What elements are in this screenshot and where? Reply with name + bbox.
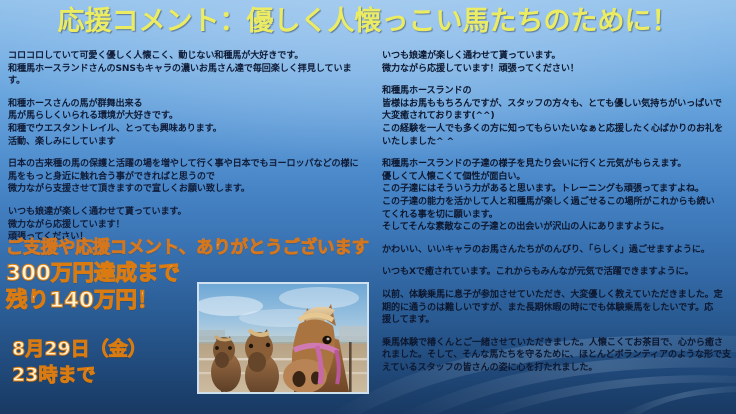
comment-paragraph: かわいい、いいキャラのお馬さんたちがのんびり、「らしく」過ごせますように。: [382, 244, 734, 257]
comment-paragraph: 和種馬ホースランドの皆様はお馬ももちろんですが、スタッフの方々も、とても優しい気…: [382, 85, 734, 148]
deadline-time: 23時まで: [12, 362, 147, 388]
comment-paragraph: 和種ホースさんの馬が群舞出来る馬が馬らしくいられる環境が大好きです。和種でウエス…: [8, 98, 360, 148]
thanks-message: ご支援や応援コメント、ありがとうございます: [6, 236, 366, 260]
comment-paragraph: 乗馬体験で椿くんとご一緒させていただきました。人懐こくてお茶目で、心から癒されま…: [382, 337, 734, 375]
comment-paragraph: いつもXで癒されています。これからもみんなが元気で活躍できますように。: [382, 266, 734, 279]
page-title: 応援コメント：優しく人懐っこい馬たちのために！: [0, 2, 736, 42]
deadline-date: 8月29日（金）: [12, 336, 147, 362]
comment-paragraph: 日本の古来種の馬の保護と活躍の場を増やして行く事や日本でもヨーロッパなどの様に馬…: [8, 158, 360, 196]
comment-paragraph: いつも娘達が楽しく通わせて貰っています。微力ながら応援しています！頑張ってくださ…: [382, 50, 734, 75]
left-comments-column: コロコロしていて可愛く優しく人懐こく、動じない和種馬が大好きです。和種馬ホースラ…: [8, 50, 360, 254]
right-comments-column: いつも娘達が楽しく通わせて貰っています。微力ながら応援しています！頑張ってくださ…: [382, 50, 734, 384]
deadline-block: 8月29日（金） 23時まで: [12, 336, 147, 388]
comment-paragraph: コロコロしていて可愛く優しく人懐こく、動じない和種馬が大好きです。和種馬ホースラ…: [8, 50, 360, 88]
slide-canvas: 応援コメント：優しく人懐っこい馬たちのために！ コロコロしていて可愛く優しく人懐…: [0, 0, 736, 414]
horses-photo: [197, 282, 369, 394]
comment-paragraph: 和種馬ホースランドの子達の様子を見たり会いに行くと元気がもらえます。優しくて人懐…: [382, 158, 734, 234]
comment-paragraph: 以前、体験乗馬に息子が参加させていただき、大変優しく教えていただきました。定期的…: [382, 289, 734, 327]
